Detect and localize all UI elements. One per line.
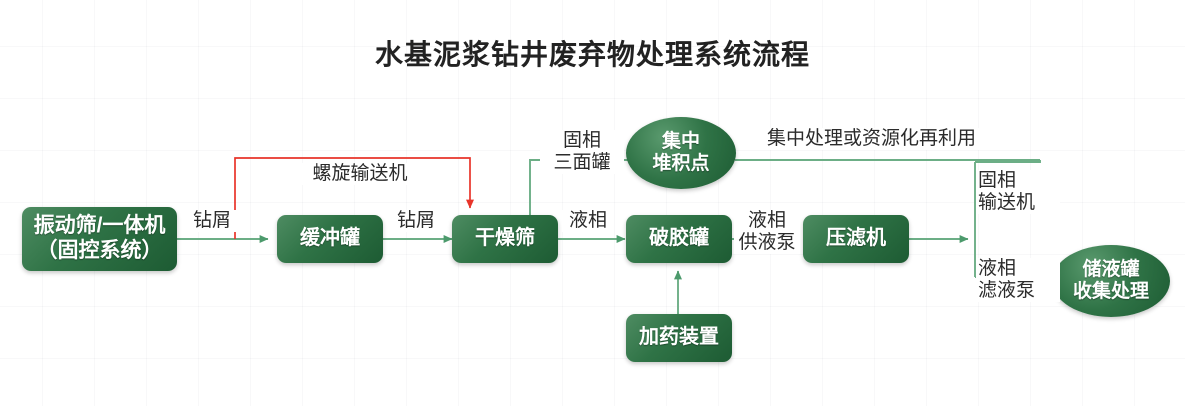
node-dosing[interactable]: 加药装置: [626, 314, 732, 362]
node-press[interactable]: 压滤机: [803, 215, 909, 263]
edge-label-liquid-supply-pump: 液相 供液泵: [734, 210, 800, 254]
edge-label-solid-three-tank: 固相 三面罐: [540, 130, 624, 174]
edge-label-liquid-filtrate-pump: 液相 滤液泵: [976, 258, 1060, 302]
node-breaker[interactable]: 破胶罐: [626, 215, 732, 263]
node-pile[interactable]: 集中 堆积点: [626, 117, 736, 189]
edge-label-solid-conveyor: 固相 输送机: [976, 170, 1060, 214]
edge-label-cuttings-1: 钻屑: [186, 210, 238, 232]
node-shaker[interactable]: 振动筛/一体机 （固控系统）: [22, 207, 177, 271]
node-dryer[interactable]: 干燥筛: [452, 215, 558, 263]
edge-label-liquid-1: 液相: [562, 210, 614, 232]
node-tank[interactable]: 储液罐 收集处理: [1052, 245, 1170, 317]
edge-label-central-reuse: 集中处理或资源化再利用: [765, 128, 999, 150]
node-buffer[interactable]: 缓冲罐: [277, 215, 383, 263]
page-title: 水基泥浆钻井废弃物处理系统流程: [0, 33, 1185, 73]
edge-label-screw-conveyor: 螺旋输送机: [288, 163, 432, 185]
flowchart-canvas: 水基泥浆钻井废弃物处理系统流程: [0, 0, 1185, 406]
edge-solid-to-top: [975, 160, 1040, 162]
edge-label-cuttings-2: 钻屑: [390, 210, 442, 232]
